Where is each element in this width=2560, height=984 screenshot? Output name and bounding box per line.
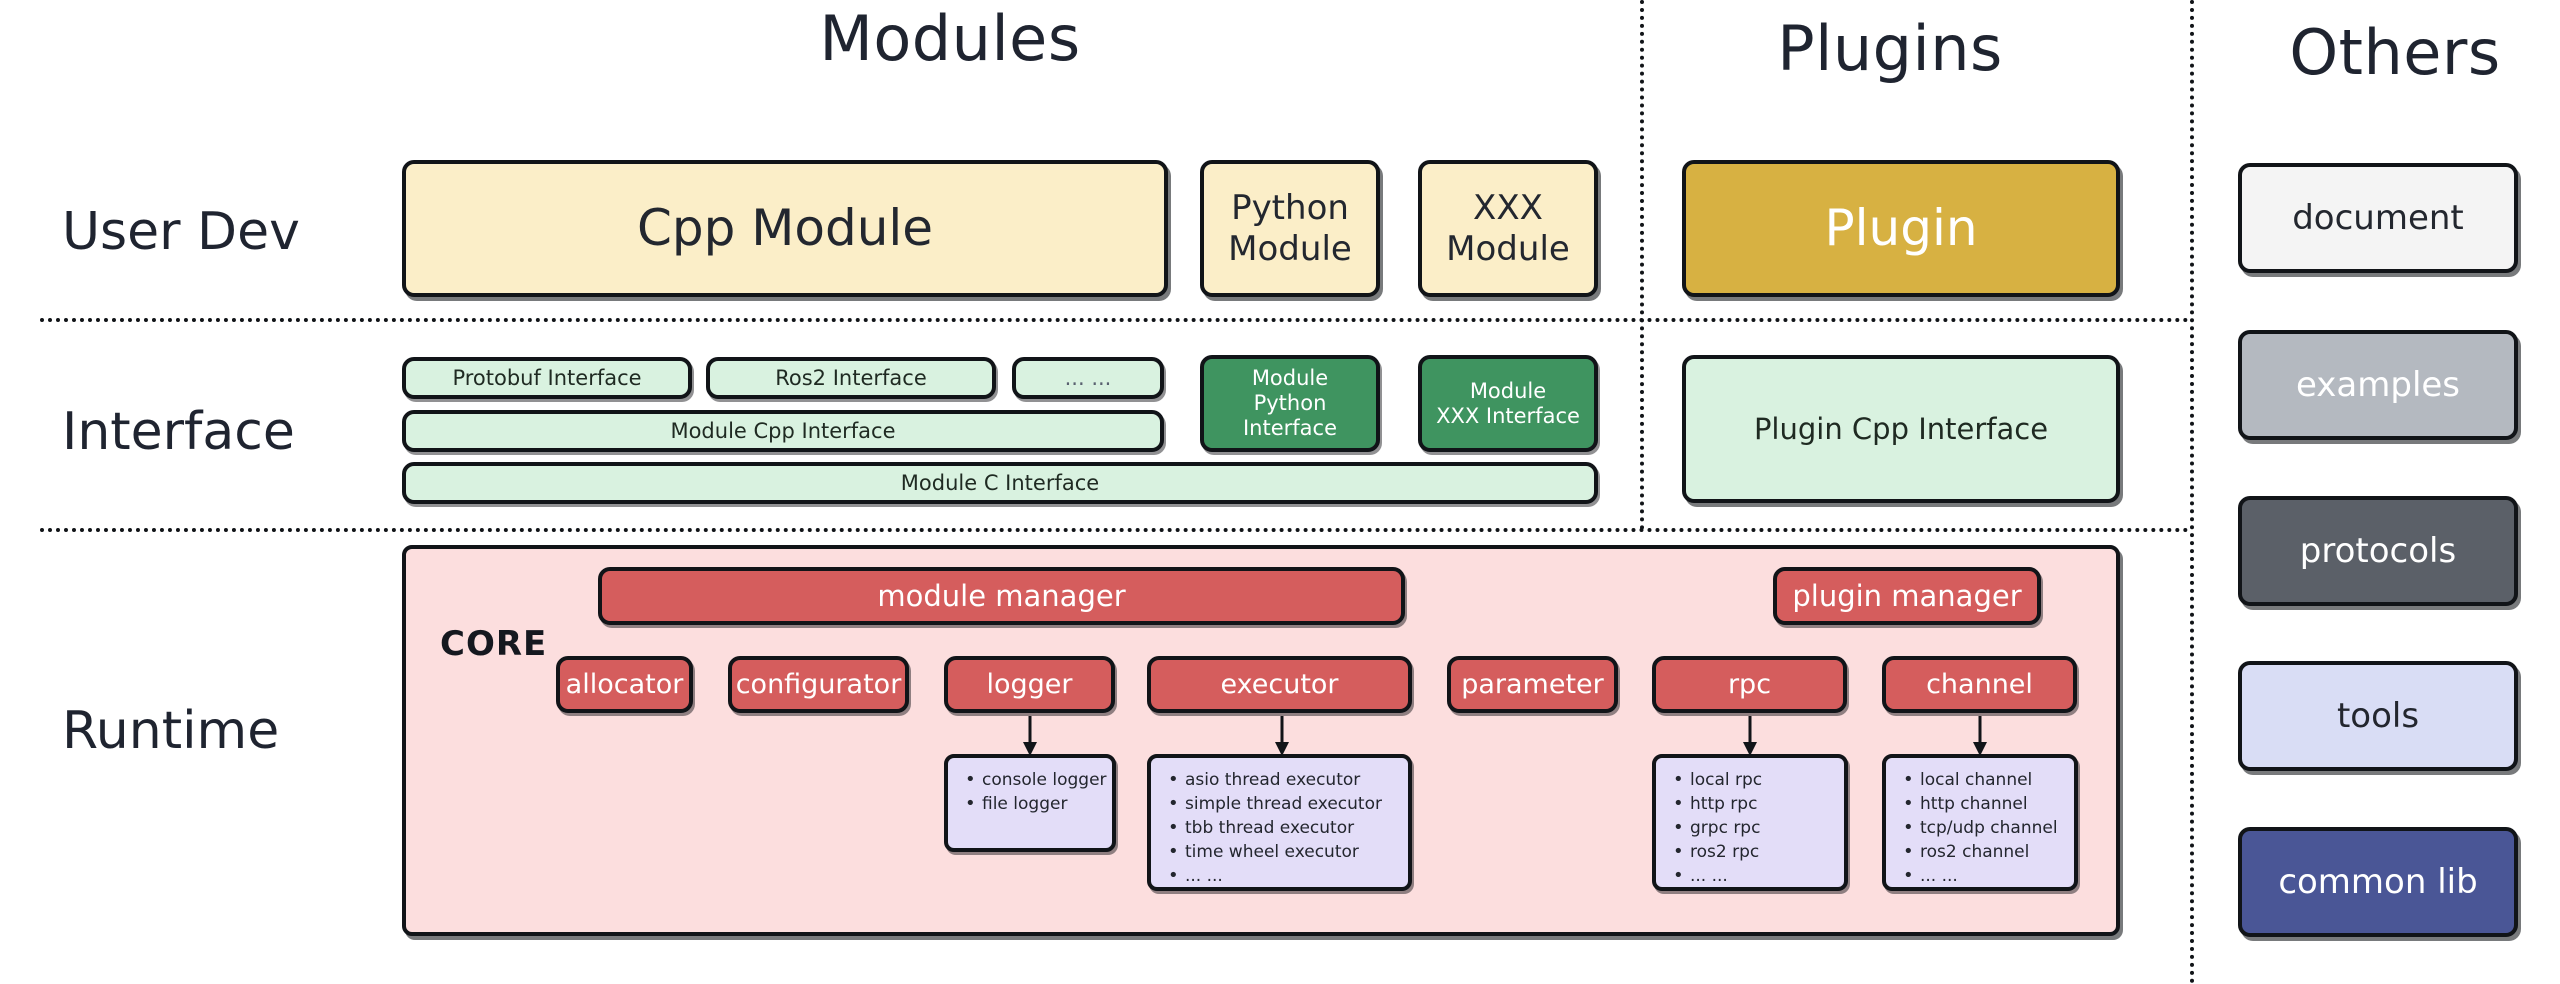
others-item-document[interactable]: document xyxy=(2238,163,2518,273)
protobuf-interface-box[interactable]: Protobuf Interface xyxy=(402,357,692,399)
component-executor-box[interactable]: executor xyxy=(1147,656,1412,713)
component-channel-box[interactable]: channel xyxy=(1882,656,2077,713)
column-title-others: Others xyxy=(2230,22,2560,84)
logger-details-list: console loggerfile logger xyxy=(962,772,1100,813)
others-item-tools-label: tools xyxy=(2337,696,2419,736)
executor-details-box[interactable]: asio thread executorsimple thread execut… xyxy=(1147,754,1412,891)
component-rpc-label: rpc xyxy=(1728,669,1771,701)
arrow-executor-down-icon xyxy=(1262,716,1302,756)
list-item: local channel xyxy=(1918,772,2062,789)
component-allocator-box[interactable]: allocator xyxy=(556,656,693,713)
channel-details-box[interactable]: local channelhttp channeltcp/udp channel… xyxy=(1882,754,2078,891)
column-title-plugins: Plugins xyxy=(1660,18,2120,80)
xxx-module-label-line1: XXX xyxy=(1473,188,1543,228)
list-item: time wheel executor xyxy=(1183,844,1396,861)
others-item-common-lib-label: common lib xyxy=(2278,862,2477,902)
row-label-interface: Interface xyxy=(62,406,295,458)
horizontal-divider-userdev-interface xyxy=(40,318,2190,322)
component-allocator-label: allocator xyxy=(566,669,684,701)
list-item: http channel xyxy=(1918,796,2062,813)
component-configurator-label: configurator xyxy=(736,669,902,701)
component-logger-box[interactable]: logger xyxy=(944,656,1115,713)
module-cpp-interface-label: Module Cpp Interface xyxy=(670,419,895,444)
cpp-module-label: Cpp Module xyxy=(637,199,933,258)
more-interface-box[interactable]: ... ... xyxy=(1012,357,1164,399)
list-item: tbb thread executor xyxy=(1183,820,1396,837)
list-item: ros2 rpc xyxy=(1688,844,1832,861)
component-executor-label: executor xyxy=(1220,669,1338,701)
others-item-common-lib[interactable]: common lib xyxy=(2238,827,2518,937)
xxx-module-box[interactable]: XXX Module xyxy=(1418,160,1598,297)
xxx-module-label-line2: Module xyxy=(1446,229,1570,269)
channel-details-list: local channelhttp channeltcp/udp channel… xyxy=(1900,772,2062,885)
list-item: tcp/udp channel xyxy=(1918,820,2062,837)
list-item: ros2 channel xyxy=(1918,844,2062,861)
module-manager-box[interactable]: module manager xyxy=(598,567,1405,625)
module-manager-label: module manager xyxy=(877,579,1125,613)
module-python-interface-label-line1: Module xyxy=(1252,366,1328,391)
list-item: grpc rpc xyxy=(1688,820,1832,837)
list-item: http rpc xyxy=(1688,796,1832,813)
others-item-document-label: document xyxy=(2292,198,2464,238)
component-configurator-box[interactable]: configurator xyxy=(728,656,909,713)
plugin-manager-label: plugin manager xyxy=(1792,579,2021,613)
component-channel-label: channel xyxy=(1926,669,2033,701)
ros2-interface-box[interactable]: Ros2 Interface xyxy=(706,357,996,399)
module-xxx-interface-box[interactable]: Module XXX Interface xyxy=(1418,355,1598,452)
rpc-details-list: local rpchttp rpcgrpc rpcros2 rpc... ... xyxy=(1670,772,1832,885)
others-item-protocols-label: protocols xyxy=(2300,531,2456,571)
logger-details-box[interactable]: console loggerfile logger xyxy=(944,754,1116,852)
list-item: local rpc xyxy=(1688,772,1832,789)
list-item: file logger xyxy=(980,796,1100,813)
module-c-interface-box[interactable]: Module C Interface xyxy=(402,462,1598,504)
list-item: console logger xyxy=(980,772,1100,789)
module-xxx-interface-label-line2: XXX Interface xyxy=(1436,404,1580,429)
row-label-user-dev: User Dev xyxy=(62,206,300,258)
list-item: ... ... xyxy=(1183,868,1396,885)
module-cpp-interface-box[interactable]: Module Cpp Interface xyxy=(402,410,1164,452)
core-label: CORE xyxy=(440,627,547,661)
python-module-box[interactable]: Python Module xyxy=(1200,160,1380,297)
module-python-interface-box[interactable]: Module Python Interface xyxy=(1200,355,1380,452)
plugin-cpp-interface-box[interactable]: Plugin Cpp Interface xyxy=(1682,355,2120,503)
python-module-label-line2: Module xyxy=(1228,229,1352,269)
rpc-details-box[interactable]: local rpchttp rpcgrpc rpcros2 rpc... ... xyxy=(1652,754,1848,891)
others-item-protocols[interactable]: protocols xyxy=(2238,496,2518,606)
cpp-module-box[interactable]: Cpp Module xyxy=(402,160,1168,297)
component-parameter-box[interactable]: parameter xyxy=(1447,656,1618,713)
component-logger-label: logger xyxy=(986,669,1072,701)
plugin-manager-box[interactable]: plugin manager xyxy=(1773,567,2041,625)
column-title-modules: Modules xyxy=(730,8,1170,70)
list-item: ... ... xyxy=(1688,868,1832,885)
list-item: simple thread executor xyxy=(1183,796,1396,813)
list-item: ... ... xyxy=(1918,868,2062,885)
vertical-divider-plugins-others xyxy=(2190,0,2194,984)
list-item: asio thread executor xyxy=(1183,772,1396,789)
component-parameter-label: parameter xyxy=(1461,669,1604,701)
executor-details-list: asio thread executorsimple thread execut… xyxy=(1165,772,1396,885)
module-xxx-interface-label-line1: Module xyxy=(1470,379,1546,404)
component-rpc-box[interactable]: rpc xyxy=(1652,656,1847,713)
more-interface-label: ... ... xyxy=(1065,366,1112,391)
arrow-logger-down-icon xyxy=(1010,716,1050,756)
plugin-box[interactable]: Plugin xyxy=(1682,160,2120,297)
others-item-tools[interactable]: tools xyxy=(2238,661,2518,771)
python-module-label-line1: Python xyxy=(1231,188,1349,228)
ros2-interface-label: Ros2 Interface xyxy=(775,366,927,391)
arrow-rpc-down-icon xyxy=(1730,716,1770,756)
vertical-divider-modules-plugins xyxy=(1640,0,1644,530)
architecture-diagram: Modules Plugins Others User Dev Interfac… xyxy=(0,0,2560,984)
module-python-interface-label-line2: Python Interface xyxy=(1204,391,1376,441)
protobuf-interface-label: Protobuf Interface xyxy=(452,366,641,391)
plugin-cpp-interface-label: Plugin Cpp Interface xyxy=(1754,412,2048,446)
plugin-label: Plugin xyxy=(1824,199,1977,258)
row-label-runtime: Runtime xyxy=(62,705,279,757)
module-c-interface-label: Module C Interface xyxy=(901,471,1099,496)
others-item-examples-label: examples xyxy=(2296,365,2460,405)
others-item-examples[interactable]: examples xyxy=(2238,330,2518,440)
arrow-channel-down-icon xyxy=(1960,716,2000,756)
horizontal-divider-interface-runtime xyxy=(40,528,2190,532)
